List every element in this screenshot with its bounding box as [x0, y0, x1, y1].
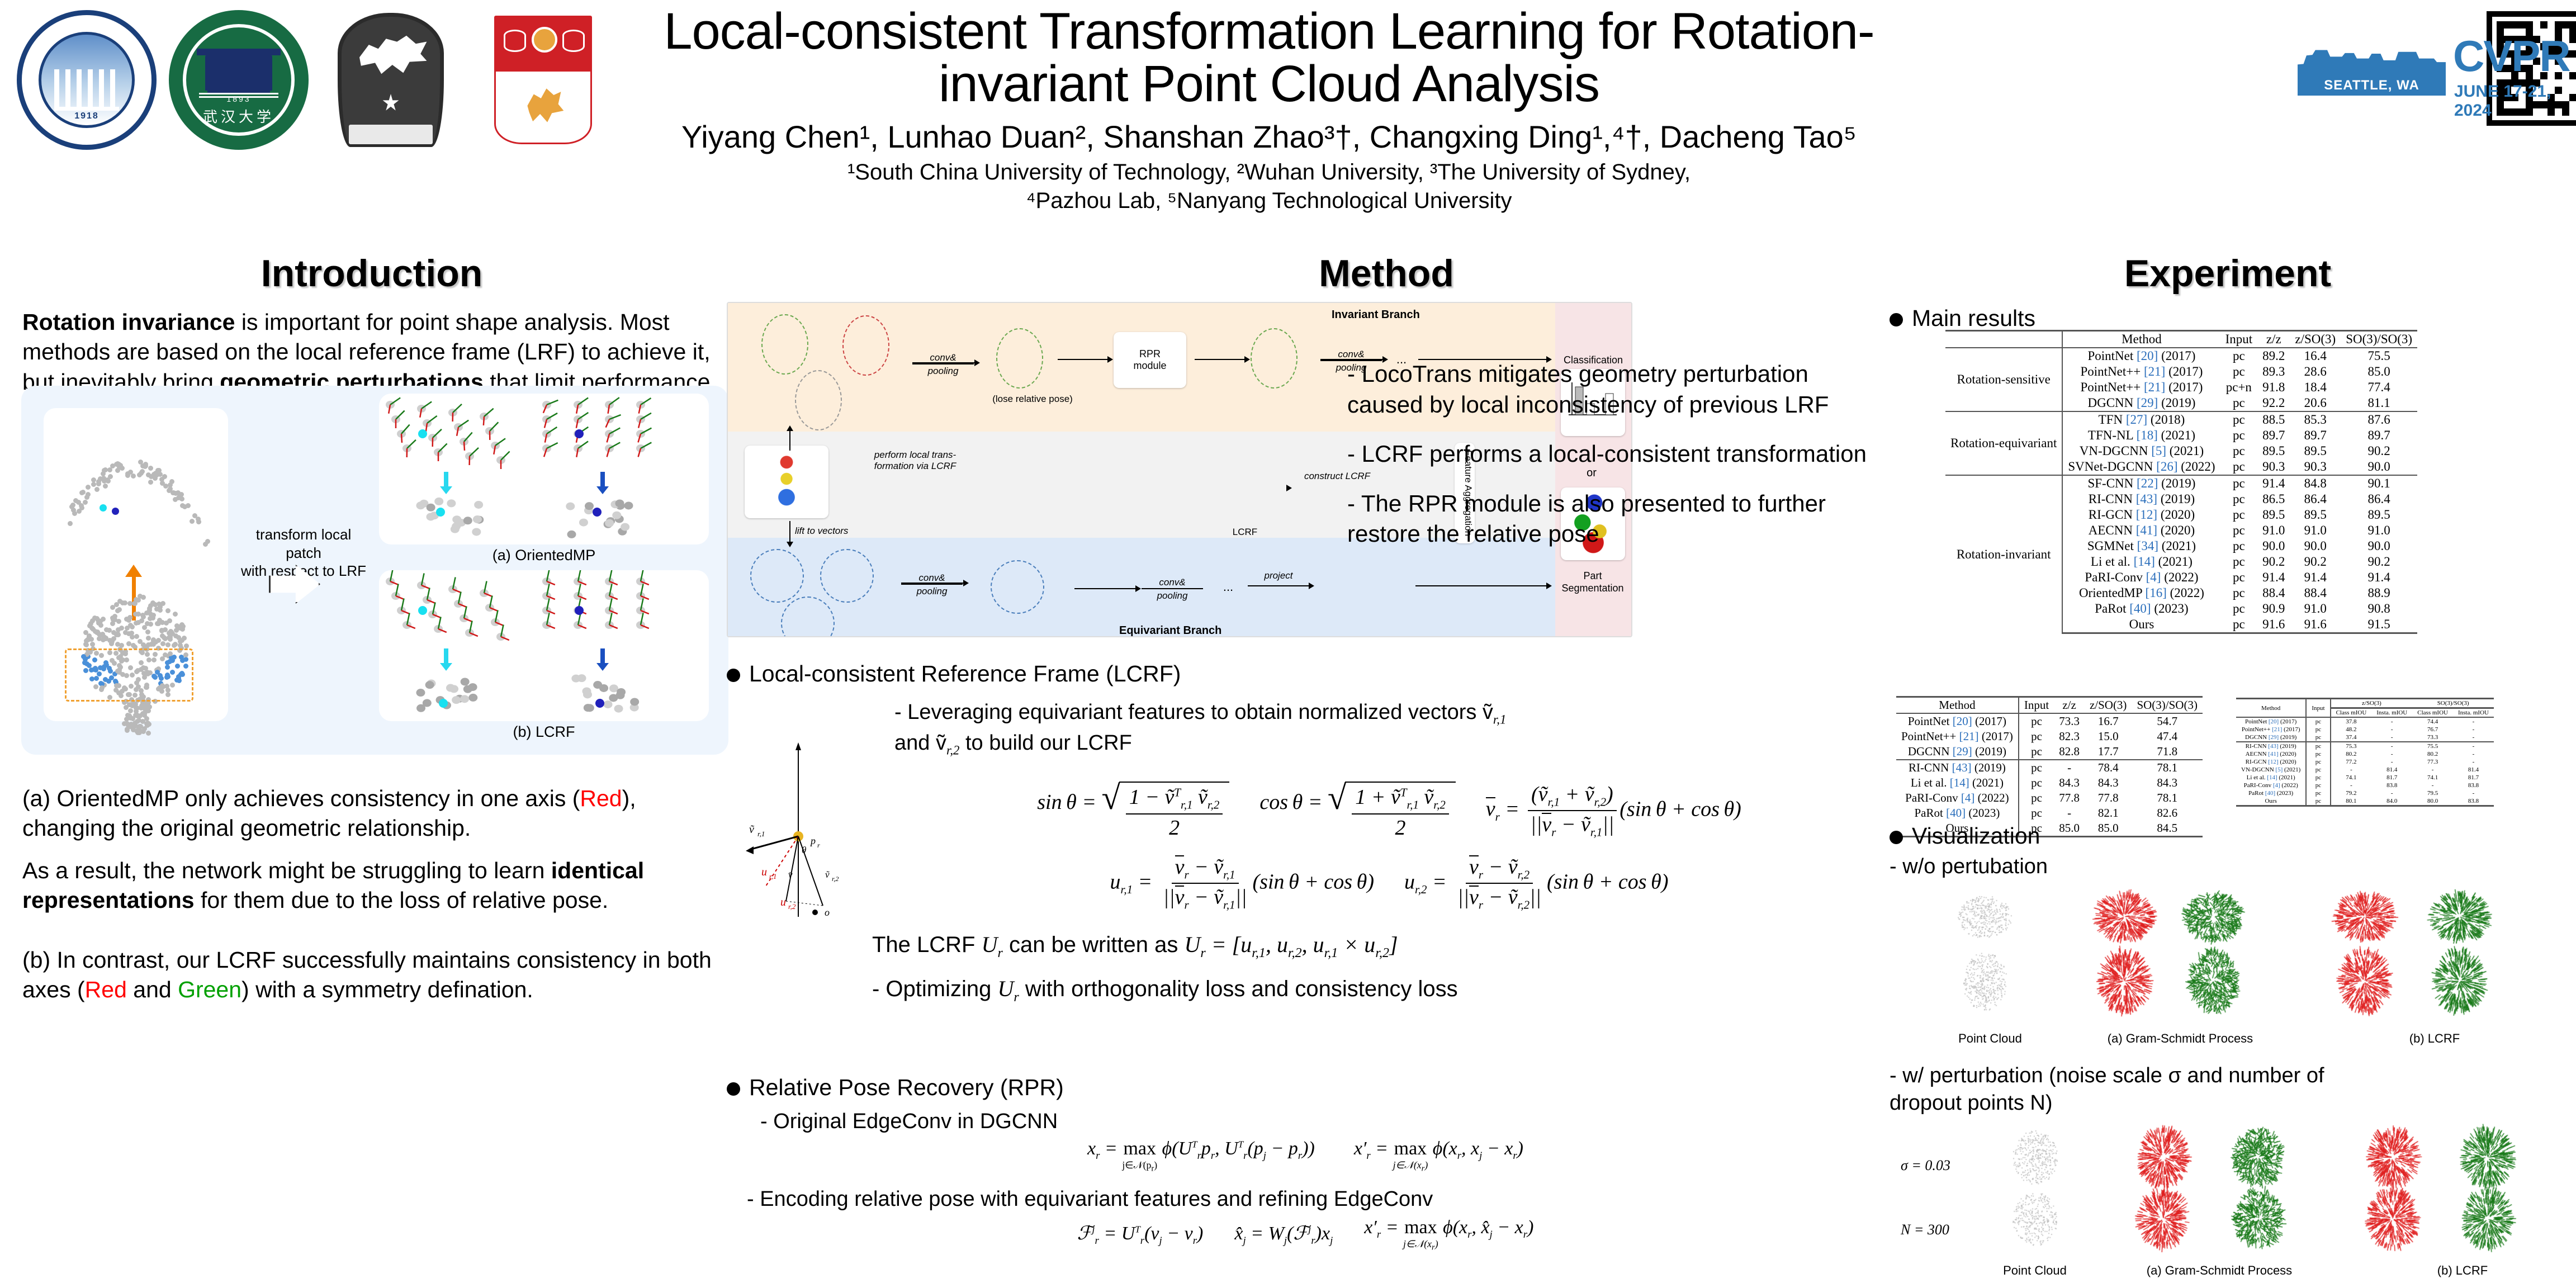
viz-wo-perturbation-label: - w/o pertubation	[1890, 855, 2566, 879]
svg-text:u: u	[780, 896, 786, 908]
qr-module	[2569, 87, 2576, 94]
point-dot	[107, 628, 112, 633]
svg-text:ṽ: ṽ	[825, 869, 830, 880]
red-keyword-b: Red	[85, 977, 127, 1002]
label-equivariant-branch: Equivariant Branch	[1119, 624, 1221, 637]
lcrf-optimizing: - Optimizing Ur with orthogonality loss …	[872, 976, 1884, 1005]
point-dot	[165, 642, 171, 647]
label-lcrf: LCRF	[1214, 527, 1276, 538]
method-bullet-rpr: Relative Pose Recovery (RPR)	[727, 1073, 1884, 1102]
introduction-heading: Introduction	[22, 252, 721, 295]
method-column: Method Framework Invariant Branch Equiva…	[727, 252, 1878, 329]
table-row: Rotation-equivariantTFN [27] (2018)pc88.…	[1945, 411, 2417, 428]
author-list: Yiyang Chen¹, Lunhao Duan², Shanshan Zha…	[632, 119, 1906, 155]
ntu-logo	[473, 10, 613, 150]
eq-F-rj: ℱjr = UTr(vj − vr)	[1077, 1222, 1204, 1247]
experiment-column: Experiment Main results	[1890, 252, 2566, 333]
qr-module	[2547, 21, 2555, 29]
poster-root: 1918 1893 武汉大学	[0, 0, 2576, 1288]
table-row: DGCNN [29] (2019)pc37.4-73.3-	[2236, 733, 2494, 742]
qr-module	[2569, 43, 2576, 50]
qr-module	[2569, 29, 2576, 36]
lcrf-section: Local-consistent Reference Frame (LCRF) …	[727, 660, 1884, 1005]
label-conv-4: conv&	[1142, 577, 1203, 589]
qr-module	[2511, 21, 2518, 29]
viz-caption-pointcloud: Point Cloud	[1934, 1031, 2046, 1046]
viz-grid-perturbation: σ = 0.03 N = 300 Point Cloud (a) Gram-Sc…	[1901, 1124, 2572, 1286]
point-dot	[136, 598, 141, 603]
miou-table-wrapper: MethodInputz/SO(3)SO(3)/SO(3)Class mIOUI…	[2236, 698, 2494, 807]
table-row: Li et al. [14] (2021)pc74.181.774.181.7	[2236, 774, 2494, 782]
eq-u-r1: ur,1 = vr − ṽr,1||vr − ṽr,1||(sin θ + co…	[1110, 855, 1374, 912]
intro-figure-panel: transform local patch with respect to LR…	[21, 386, 728, 755]
qr-module	[2562, 21, 2569, 29]
cvpr-date: JUNE 17-21, 2024	[2454, 82, 2566, 120]
intro-lower-text: (a) OrientedMP only achieves consistency…	[22, 771, 724, 1005]
rpr-equation-row-1: xr = maxj∈𝒩(pr) ϕ(UTrpr, UTr(pj − pr)) x…	[727, 1138, 1884, 1174]
qr-module	[2569, 21, 2576, 29]
vector-field	[379, 570, 709, 721]
method-key-points: - LocoTrans mitigates geometry perturbat…	[1347, 347, 1884, 550]
qr-module	[2518, 21, 2526, 29]
experiment-bullet-main-results: Main results	[1890, 304, 2566, 333]
point-dot	[129, 631, 134, 636]
table-row: PaRot [40] (2023)pc79.2-79.5-	[2236, 789, 2494, 797]
arrow-icon	[1248, 585, 1309, 586]
point-dot	[150, 615, 155, 621]
method-bullet-lcrf: Local-consistent Reference Frame (LCRF)	[727, 660, 1884, 688]
table-row: AECNN [41] (2020)pc80.2-80.2-	[2236, 750, 2494, 758]
eq-ellipse-pooled	[991, 560, 1044, 614]
experiment-heading: Experiment	[1890, 252, 2566, 295]
qr-module	[2569, 108, 2576, 116]
figure-lcrf-card	[379, 570, 709, 721]
point-dot	[168, 634, 173, 640]
eq-xr-prime-2: x′r = maxj∈𝒩(xr) ϕ(xr, x̂j − xr)	[1364, 1217, 1533, 1253]
arrow-icon	[1415, 585, 1547, 586]
patch-ellipse-pooled	[996, 328, 1043, 389]
table-row: Rotation-invariantSF-CNN [22] (2019)pc91…	[1945, 475, 2417, 491]
eq-u-r2: ur,2 = vr − ṽr,2||vr − ṽr,2||(sin θ + co…	[1404, 855, 1668, 912]
input-pointcloud-box	[745, 446, 828, 518]
arrow-icon	[1074, 588, 1136, 589]
qr-module	[2569, 65, 2576, 72]
eq-ellipse-2	[820, 549, 874, 603]
intro-paragraph-4: (b) In contrast, our LCRF successfully m…	[22, 945, 724, 1005]
viz-w-perturbation-label: - w/ perturbation (noise scale σ and num…	[1890, 1062, 2566, 1117]
point-dot	[133, 713, 138, 718]
label-perform-local-transformation: perform local trans-formation via LCRF	[840, 449, 991, 472]
svg-text:v̄: v̄	[788, 869, 793, 880]
table-row: DGCNN [29] (2019)pc82.817.771.8	[1896, 744, 2203, 760]
point-dot	[167, 618, 172, 623]
point-dot	[146, 636, 151, 641]
rpr-module-box: RPRmodule	[1114, 332, 1186, 388]
table-row: VN-DGCNN [5] (2021)pc-81.4-81.4	[2236, 766, 2494, 774]
patch-ellipse-green	[761, 314, 808, 375]
figure-caption-a: (a) OrientedMP	[379, 547, 709, 564]
point-dot	[127, 713, 132, 718]
qr-module	[2569, 58, 2576, 65]
arrow-icon	[1058, 359, 1108, 360]
viz-caption-lcrf-2: (b) LCRF	[2393, 1263, 2532, 1278]
qr-module	[2533, 21, 2540, 29]
usyd-logo	[321, 10, 461, 150]
arrow-up-icon	[789, 430, 790, 451]
viz-caption-pointcloud-2: Point Cloud	[1979, 1263, 2091, 1278]
affiliations: ¹South China University of Technology, ²…	[632, 158, 1906, 215]
intro-bold-rotation-invariance: Rotation invariance	[22, 309, 235, 335]
table-row: PaRot [40] (2023)pc-82.182.6	[1896, 806, 2203, 821]
table-row: PaRI-Conv [4] (2022)pc77.877.878.1	[1896, 790, 2203, 806]
row-group-label: Rotation-invariant	[1945, 475, 2062, 633]
patch-ellipse-gray	[795, 370, 842, 430]
label-lift-to-vectors: lift to vectors	[795, 525, 896, 537]
svg-text:p: p	[809, 835, 816, 846]
table-row: RI-CNN [43] (2019)pc75.3-75.5-	[2236, 742, 2494, 750]
rpr-subtitle-2: - Encoding relative pose with equivarian…	[747, 1187, 1884, 1211]
scut-year: 1918	[41, 111, 132, 121]
arrow-icon	[901, 583, 964, 584]
arrow-icon	[912, 362, 975, 363]
bullet-dot-icon	[1890, 831, 1903, 844]
arrow-icon	[1195, 359, 1245, 360]
svg-text:u: u	[761, 866, 767, 878]
qr-module	[2504, 21, 2511, 29]
cvpr-location: SEATTLE, WA	[2324, 78, 2419, 93]
qr-module	[2569, 36, 2576, 43]
point-dot	[122, 600, 127, 605]
qr-module	[2540, 21, 2547, 29]
orientedmp-vectors	[379, 394, 709, 544]
table-row: Li et al. [14] (2021)pc84.384.384.3	[1896, 775, 2203, 790]
eq-v-bar: vr = (ṽr,1 + ṽr,2)||vr − ṽr,1||(sin θ + …	[1486, 782, 1741, 840]
eq-xr-original: xr = maxj∈𝒩(pr) ϕ(UTrpr, UTr(pj − pr))	[1087, 1138, 1315, 1174]
poster-header: 1918 1893 武汉大学	[0, 0, 2576, 263]
experiment-bullet-visualization: Visualization	[1890, 822, 2566, 850]
viz-caption-lcrf: (b) LCRF	[2365, 1031, 2504, 1046]
arrow-down-icon	[789, 521, 790, 542]
lcrf-equation-row-2: ur,1 = vr − ṽr,1||vr − ṽr,1||(sin θ + co…	[894, 855, 1884, 912]
point-dot	[177, 624, 182, 629]
viz-label-sigma: σ = 0.03	[1901, 1157, 1950, 1174]
figure-orientedmp-card	[379, 394, 709, 544]
point-dot	[140, 613, 145, 618]
point-dot	[145, 629, 150, 634]
intro-paragraph-1: Rotation invariance is important for poi…	[22, 307, 721, 397]
qr-module	[2497, 21, 2504, 29]
point-dot	[84, 642, 89, 647]
vector-field	[379, 394, 709, 544]
rpr-subtitle-1: - Original EdgeConv in DGCNN	[760, 1110, 1884, 1134]
point-dot	[160, 641, 165, 646]
whu-logo: 1893 武汉大学	[169, 10, 309, 150]
qr-module	[2569, 50, 2576, 58]
eq-sin-theta: sin θ = √ 1 − ṽTr,1 ṽr,22	[1037, 782, 1229, 840]
label-lose-relative-pose: (lose relative pose)	[968, 394, 1097, 405]
point-dot	[127, 601, 132, 606]
method-point-1: - LocoTrans mitigates geometry perturbat…	[1347, 359, 1884, 420]
viz-label-n: N = 300	[1901, 1221, 1949, 1238]
point-dot	[96, 618, 101, 623]
viz-caption-gram-schmidt: (a) Gram-Schmidt Process	[2085, 1031, 2275, 1046]
table-row: PointNet [20] (2017)pc37.8-74.4-	[2236, 717, 2494, 726]
poster-title: Local-consistent Transformation Learning…	[632, 6, 1906, 111]
point-dot	[133, 612, 138, 617]
figure-caption-b: (b) LCRF	[379, 723, 709, 741]
point-dot	[146, 731, 151, 736]
green-keyword: Green	[178, 977, 241, 1002]
qr-module	[2526, 21, 2533, 29]
part-seg-results-table: MethodInputz/zz/SO(3)SO(3)/SO(3)PointNet…	[1896, 696, 2203, 837]
eq-xr-prime: x′r = maxj∈𝒩(xr) ϕ(xr, xj − xr)	[1354, 1138, 1523, 1174]
segmentation-table-wrapper: MethodInputz/zz/SO(3)SO(3)/SO(3)PointNet…	[1896, 696, 2203, 837]
qr-module	[2569, 101, 2576, 108]
title-block: Local-consistent Transformation Learning…	[632, 6, 1906, 215]
svg-text:r,2: r,2	[788, 902, 796, 911]
qr-module	[2569, 79, 2576, 87]
point-dot	[179, 638, 184, 643]
point-dot	[141, 729, 146, 734]
point-dot	[103, 636, 108, 641]
figure-pointcloud-card	[44, 408, 228, 721]
qr-module	[2555, 21, 2562, 29]
bullet-dot-icon	[727, 669, 740, 682]
point-dot	[110, 605, 115, 610]
point-dot	[89, 637, 94, 642]
viz-grid-no-perturbation: Point Cloud (a) Gram-Schmidt Process (b)…	[1901, 883, 2572, 1051]
ellipsis-2: ...	[1217, 580, 1239, 594]
bullet-dot-icon	[727, 1082, 740, 1096]
table-row: PointNet++ [21] (2017)pc48.2-76.7-	[2236, 726, 2494, 733]
miou-results-table: MethodInputz/SO(3)SO(3)/SO(3)Class mIOUI…	[2236, 698, 2494, 807]
label-pooling-4: pooling	[1142, 590, 1203, 602]
patch-ellipse-restored	[1251, 328, 1298, 389]
table-row: Ourspc80.184.080.083.8	[2236, 797, 2494, 806]
rpr-section: Relative Pose Recovery (RPR) - Original …	[727, 1073, 1884, 1252]
point-dot	[165, 608, 171, 613]
label-part-segmentation: PartSegmentation	[1556, 570, 1629, 594]
main-results-table-wrapper: MethodInputz/zz/SO(3)SO(3)/SO(3)Rotation…	[1945, 330, 2417, 634]
bullet-dot-icon	[1890, 313, 1903, 326]
patch-ellipse-red	[842, 315, 889, 376]
point-dot	[109, 641, 114, 646]
cvpr-logo: SEATTLE, WA CVPR JUNE 17-21, 2024	[2298, 31, 2566, 109]
rpr-equation-row-2: ℱjr = UTr(vj − vr) x̂j = Wj(ℱjr)xj x′r =…	[727, 1217, 1884, 1253]
eq-xhat-j: x̂j = Wj(ℱjr)xj	[1234, 1222, 1333, 1247]
whu-chinese-name: 武汉大学	[186, 106, 291, 126]
visualization-section: Visualization - w/o pertubation	[1890, 822, 2566, 879]
viz-canvas-clean	[1901, 883, 2572, 1034]
point-dot	[124, 705, 129, 710]
qr-module	[2569, 72, 2576, 79]
svg-text:r: r	[817, 841, 820, 849]
eq-ellipse-1	[750, 549, 804, 603]
point-dot	[116, 632, 121, 637]
point-dot	[169, 629, 174, 634]
table-row: PointNet [20] (2017)pc73.316.754.7	[1896, 713, 2203, 729]
patch-highlight-box	[65, 648, 193, 702]
lcrf-equation-row-1: sin θ = √ 1 − ṽTr,1 ṽr,22 cos θ = √ 1 + …	[894, 782, 1884, 840]
whu-year: 1893	[186, 94, 291, 103]
row-group-label: Rotation-equivariant	[1945, 411, 2062, 475]
point-dot	[117, 599, 122, 604]
point-dot	[184, 643, 189, 648]
svg-text:r,2: r,2	[832, 875, 839, 883]
label-pooling-3: pooling	[901, 586, 963, 597]
method-heading: Method	[894, 252, 1878, 295]
point-dot	[134, 634, 139, 639]
viz-caption-gram-schmidt-2: (a) Gram-Schmidt Process	[2124, 1263, 2314, 1278]
label-invariant-branch: Invariant Branch	[1332, 309, 1420, 321]
point-dot	[115, 608, 120, 613]
svg-text:r,1: r,1	[769, 872, 776, 880]
point-dot	[173, 642, 178, 647]
point-dot	[159, 628, 164, 633]
viz-canvas-perturbed	[1901, 1124, 2572, 1263]
intro-paragraph-2: (a) OrientedMP only achieves consistency…	[22, 784, 724, 844]
point-dot	[101, 617, 106, 622]
red-keyword-a: Red	[580, 785, 622, 811]
table-row: PointNet++ [21] (2017)pc82.315.047.4	[1896, 729, 2203, 744]
method-point-2: - LCRF performs a local-consistent trans…	[1347, 439, 1884, 470]
cvpr-name: CVPR	[2453, 35, 2570, 77]
table-row: RI-CNN [43] (2019)pc-78.478.1	[1896, 760, 2203, 775]
lcrf-description: - Leveraging equivariant features to obt…	[894, 698, 1884, 759]
intro-paragraph-3: As a result, the network might be strugg…	[22, 856, 724, 916]
svg-text:r,1: r,1	[757, 830, 765, 838]
table-row: PaRI-Conv [4] (2022)pc-83.8-83.8	[2236, 782, 2494, 789]
eq-cos-theta: cos θ = √ 1 + ṽTr,1 ṽr,22	[1259, 782, 1455, 840]
label-pooling-1: pooling	[912, 366, 974, 377]
lcrf-vectors	[379, 570, 709, 721]
row-group-label: Rotation-sensitive	[1945, 348, 2062, 411]
point-dot	[147, 704, 152, 709]
lcrf-geometry-diagram: ṽ r,1 u r,1 u r,2 p r θ o v̄ ṽ r,2	[732, 738, 900, 922]
scut-logo: 1918	[17, 10, 157, 150]
point-dot	[143, 710, 148, 715]
logo-strip: 1918 1893 武汉大学	[17, 10, 613, 150]
seattle-skyline-icon	[2298, 46, 2446, 77]
method-point-3: - The RPR module is also presented to fu…	[1347, 489, 1884, 550]
svg-text:o: o	[825, 907, 830, 918]
point-dot	[129, 724, 134, 730]
point-dot	[173, 612, 178, 617]
table-row: Rotation-sensitivePointNet [20] (2017)pc…	[1945, 348, 2417, 364]
point-dot	[128, 623, 133, 628]
classification-results-table: MethodInputz/zz/SO(3)SO(3)/SO(3)Rotation…	[1945, 330, 2417, 634]
table-row: RI-GCN [12] (2020)pc77.2-77.3-	[2236, 758, 2494, 766]
svg-text:θ: θ	[802, 845, 806, 855]
svg-text:ṽ: ṽ	[749, 823, 755, 836]
lcrf-written-as: The LCRF Ur can be written as Ur = [ur,1…	[872, 931, 1884, 961]
label-project: project	[1248, 570, 1309, 581]
qr-module	[2569, 94, 2576, 101]
point-dot	[140, 703, 145, 708]
